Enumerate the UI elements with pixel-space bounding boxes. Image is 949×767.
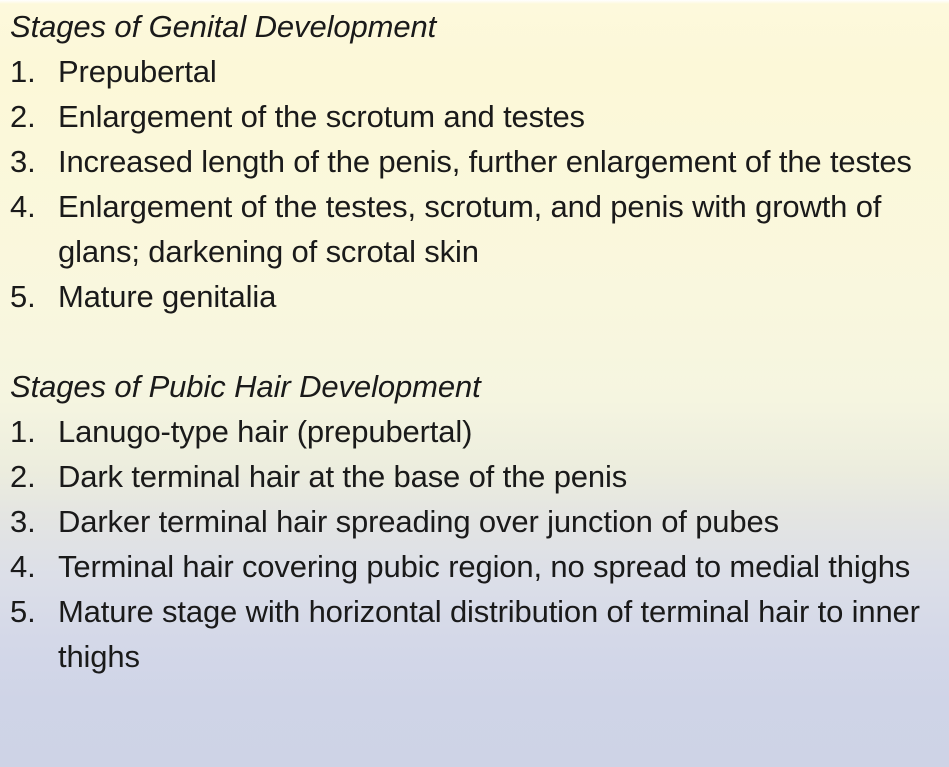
list-item-text: Enlargement of the scrotum and testes <box>58 99 585 134</box>
stage-list-pubic-hair: 1. Lanugo-type hair (prepubertal) 2. Dar… <box>0 409 949 679</box>
list-item-text: Darker terminal hair spreading over junc… <box>58 504 779 539</box>
section-heading-genital-development: Stages of Genital Development <box>0 4 949 49</box>
list-item-number: 2. <box>10 454 54 499</box>
list-item-number: 3. <box>10 499 54 544</box>
list-item-text: Dark terminal hair at the base of the pe… <box>58 459 627 494</box>
list-item-number: 4. <box>10 184 54 229</box>
slide-canvas: Stages of Genital Development 1. Prepube… <box>0 0 949 767</box>
list-item-text: Increased length of the penis, further e… <box>58 144 912 179</box>
list-item: 4. Terminal hair covering pubic region, … <box>0 544 949 589</box>
list-item-number: 1. <box>10 409 54 454</box>
list-item: 4. Enlargement of the testes, scrotum, a… <box>0 184 949 274</box>
section-heading-pubic-hair-development: Stages of Pubic Hair Development <box>0 364 949 409</box>
list-item-number: 4. <box>10 544 54 589</box>
list-item: 5. Mature stage with horizontal distribu… <box>0 589 949 679</box>
list-item: 2. Enlargement of the scrotum and testes <box>0 94 949 139</box>
stage-list-genital: 1. Prepubertal 2. Enlargement of the scr… <box>0 49 949 319</box>
list-item: 2. Dark terminal hair at the base of the… <box>0 454 949 499</box>
list-item-text: Mature stage with horizontal distributio… <box>58 594 920 674</box>
list-item-text: Lanugo-type hair (prepubertal) <box>58 414 472 449</box>
list-item-text: Mature genitalia <box>58 279 276 314</box>
list-item: 1. Prepubertal <box>0 49 949 94</box>
list-item: 5. Mature genitalia <box>0 274 949 319</box>
slide-content: Stages of Genital Development 1. Prepube… <box>0 0 949 679</box>
section-pubic-hair-development: Stages of Pubic Hair Development 1. Lanu… <box>0 364 949 679</box>
list-item-number: 5. <box>10 274 54 319</box>
list-item-text: Prepubertal <box>58 54 217 89</box>
list-item-text: Terminal hair covering pubic region, no … <box>58 549 910 584</box>
list-item-number: 5. <box>10 589 54 634</box>
section-spacer <box>0 319 949 364</box>
list-item-number: 1. <box>10 49 54 94</box>
list-item-number: 3. <box>10 139 54 184</box>
list-item-text: Enlargement of the testes, scrotum, and … <box>58 189 881 269</box>
list-item: 1. Lanugo-type hair (prepubertal) <box>0 409 949 454</box>
section-genital-development: Stages of Genital Development 1. Prepube… <box>0 4 949 319</box>
list-item: 3. Increased length of the penis, furthe… <box>0 139 949 184</box>
list-item: 3. Darker terminal hair spreading over j… <box>0 499 949 544</box>
list-item-number: 2. <box>10 94 54 139</box>
